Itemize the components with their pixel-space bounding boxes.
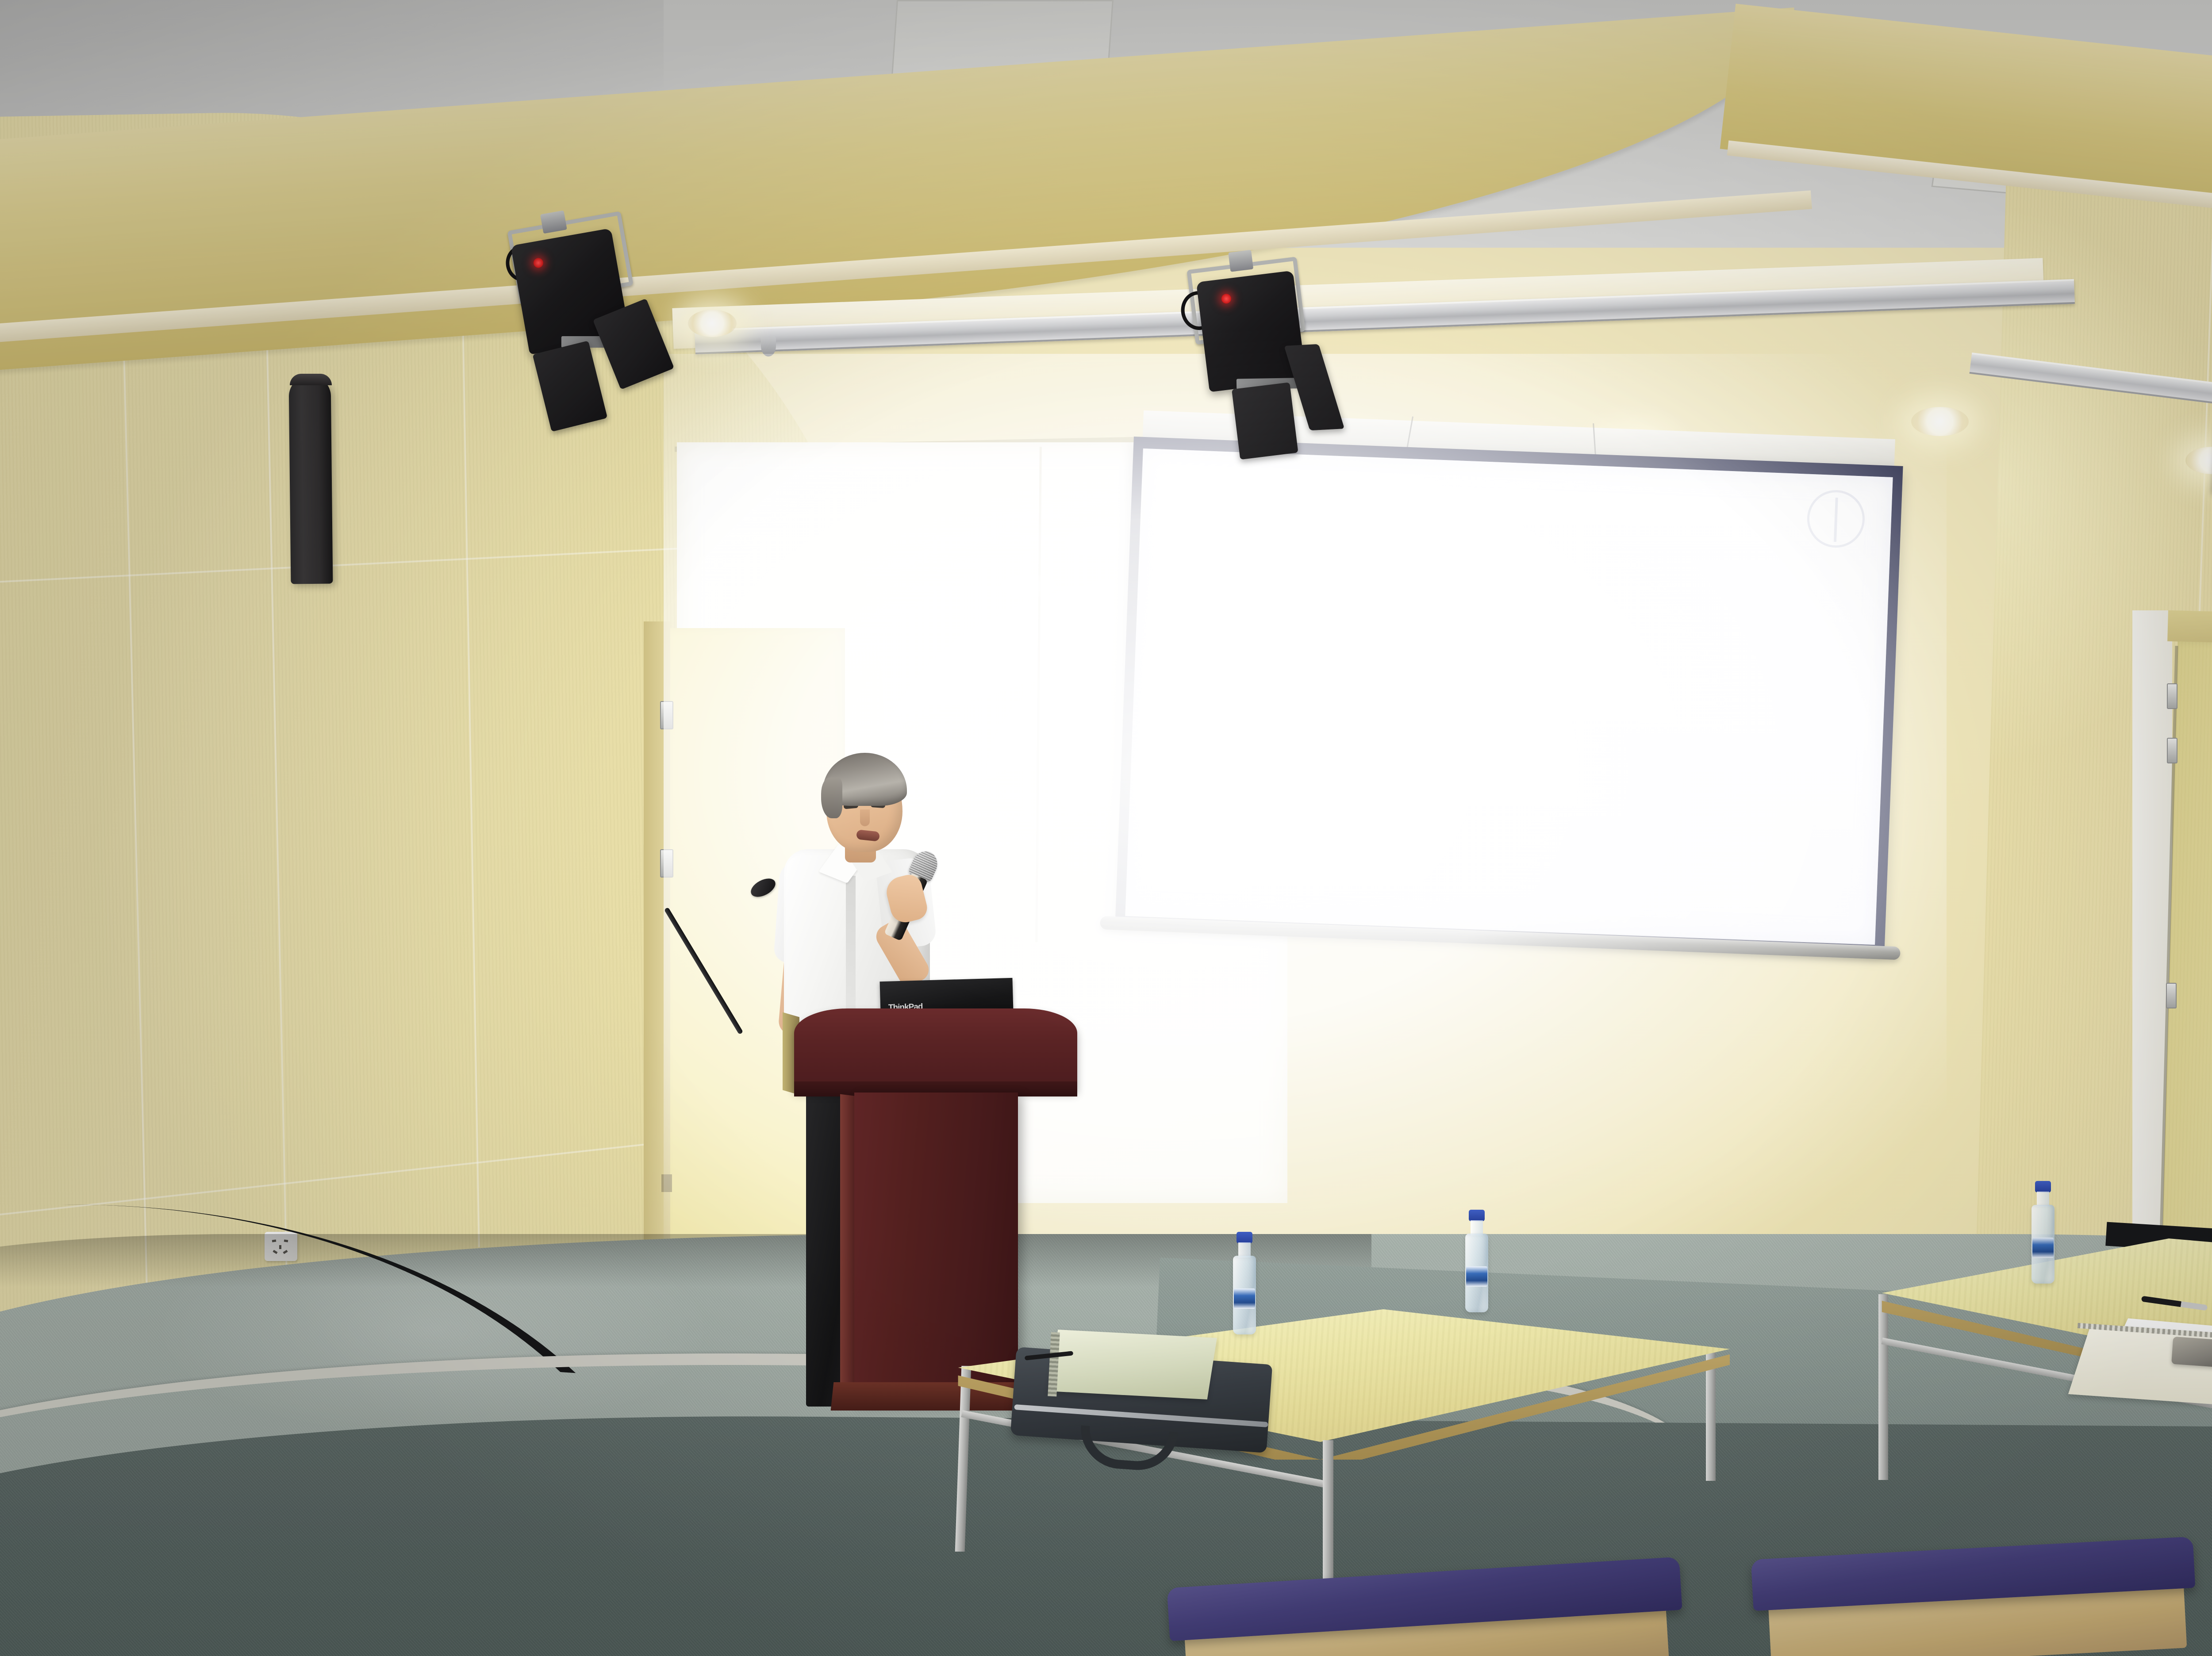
hinge-icon — [2167, 683, 2177, 709]
stage-spotlight-left — [490, 207, 705, 422]
wall-loudspeaker — [289, 376, 333, 584]
open-notebook[interactable] — [1048, 1330, 1217, 1399]
sprinkler-head-icon — [761, 336, 776, 356]
water-bottle[interactable] — [1464, 1210, 1489, 1316]
bottle-label — [2032, 1238, 2054, 1258]
wall-loudspeaker-cap — [290, 374, 332, 385]
barn-door — [1232, 382, 1298, 460]
ceiling-downlight — [1911, 407, 1969, 436]
water-bottle[interactable] — [2031, 1181, 2054, 1282]
lectern-top — [794, 1008, 1077, 1090]
whiteboard-glare — [991, 571, 1066, 602]
conference-room-photo: ThinkPad — [0, 0, 2212, 1656]
water-bottle[interactable] — [1232, 1232, 1257, 1338]
table-leg — [955, 1366, 972, 1552]
bottle-label — [1466, 1266, 1487, 1287]
hinge-icon — [2166, 983, 2177, 1008]
door-left-latch[interactable] — [661, 1174, 672, 1192]
hinge-icon — [660, 849, 673, 878]
hinge-icon — [2167, 738, 2177, 763]
projection-screen-border — [1115, 437, 1903, 952]
ceiling-downlight — [688, 310, 737, 337]
door-header-right — [2167, 610, 2212, 646]
bottle-cap — [1237, 1232, 1252, 1243]
bottle-label — [1234, 1288, 1255, 1309]
table-leg — [1878, 1294, 1888, 1480]
bottle-cap — [2035, 1181, 2051, 1192]
screen-watermark-icon — [1806, 489, 1866, 549]
bottle-cap — [1469, 1210, 1485, 1221]
projection-screen-assembly — [1114, 437, 1903, 979]
projection-screen-surface — [1125, 448, 1893, 945]
stage-spotlight-center — [1171, 256, 1364, 461]
hinge-icon — [660, 701, 673, 729]
